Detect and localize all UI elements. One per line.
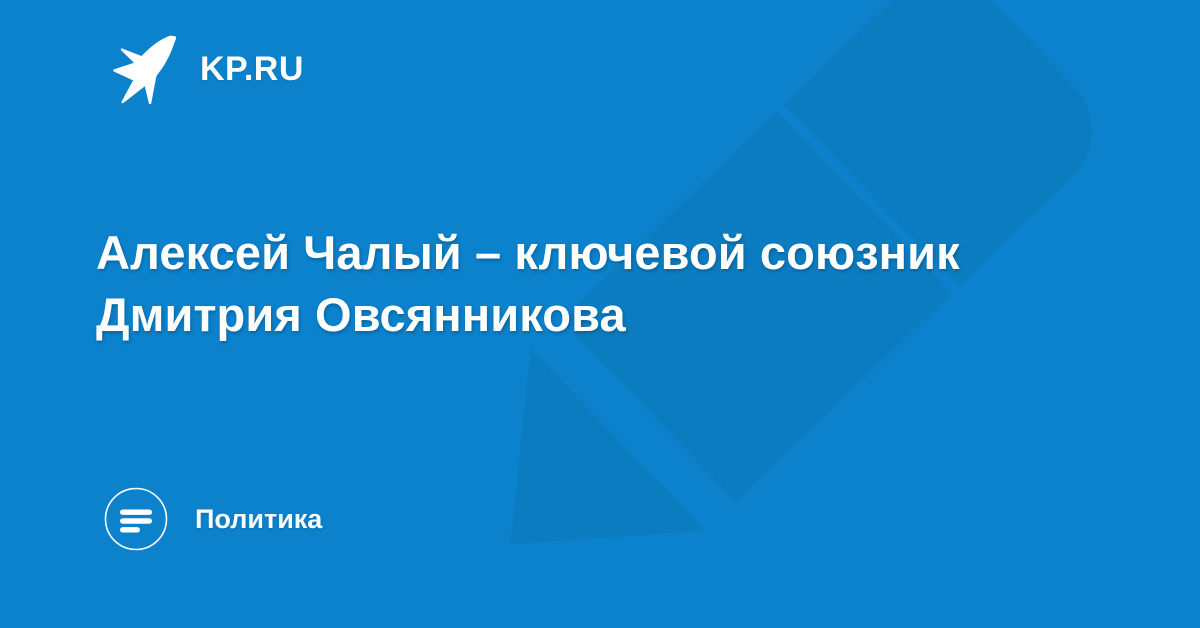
social-share-card: KP.RU Алексей Чалый – ключевой союзник Д… xyxy=(0,0,1200,628)
swallow-bird-icon xyxy=(104,33,178,105)
brand-name-text: KP.RU xyxy=(200,52,304,86)
page-title: Алексей Чалый – ключевой союзник Дмитрия… xyxy=(96,222,1056,346)
category-label-text: Политика xyxy=(195,506,322,533)
hamburger-lines-circle-icon xyxy=(104,487,168,551)
brand-logo[interactable]: KP.RU xyxy=(104,33,304,105)
category-badge[interactable]: Политика xyxy=(104,487,322,551)
